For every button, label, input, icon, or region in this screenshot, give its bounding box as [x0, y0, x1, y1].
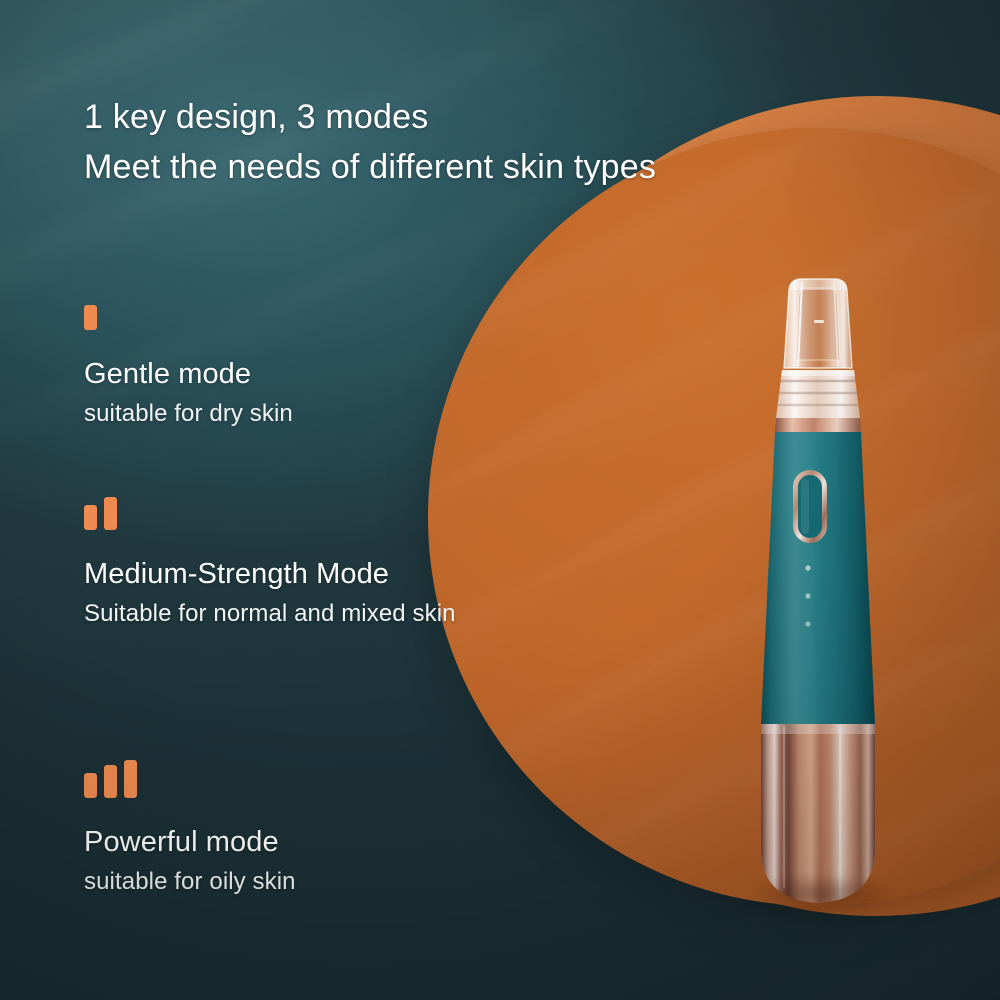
strength-bars-icon	[84, 494, 456, 530]
device-gold-ring	[775, 418, 861, 432]
strength-bar-1	[84, 305, 97, 330]
strength-bar-3	[124, 760, 137, 798]
strength-bar-1	[84, 505, 97, 530]
mode-block-medium: Medium-Strength Mode Suitable for normal…	[84, 494, 456, 628]
strength-bars-icon	[84, 294, 293, 330]
device-drop-shadow	[746, 874, 896, 914]
device-power-button[interactable]	[793, 470, 827, 543]
product-device-image	[744, 248, 892, 908]
background-circle-primary	[428, 128, 1000, 906]
indicator-dot-1	[805, 565, 810, 570]
headline: 1 key design, 3 modes Meet the needs of …	[84, 92, 656, 192]
headline-line-1: 1 key design, 3 modes	[84, 92, 656, 142]
product-poster: 1 key design, 3 modes Meet the needs of …	[0, 0, 1000, 1000]
device-svg	[744, 248, 892, 908]
mode-block-gentle: Gentle mode suitable for dry skin	[84, 294, 293, 428]
strength-bar-1	[84, 773, 97, 798]
mode-title: Gentle mode	[84, 357, 293, 391]
mode-subtitle: Suitable for normal and mixed skin	[84, 600, 456, 628]
mode-block-powerful: Powerful mode suitable for oily skin	[84, 762, 296, 896]
strength-bar-2	[104, 765, 117, 798]
strength-bar-2	[104, 497, 117, 530]
device-collar-rings	[776, 370, 860, 418]
device-nozzle-tip	[784, 279, 852, 368]
headline-line-2: Meet the needs of different skin types	[84, 142, 656, 192]
mode-title: Powerful mode	[84, 825, 296, 859]
mode-title: Medium-Strength Mode	[84, 557, 456, 591]
indicator-dot-3	[805, 621, 810, 626]
strength-bars-icon	[84, 762, 296, 798]
mode-subtitle: suitable for dry skin	[84, 400, 293, 428]
indicator-dot-2	[805, 593, 810, 598]
mode-subtitle: suitable for oily skin	[84, 868, 296, 896]
